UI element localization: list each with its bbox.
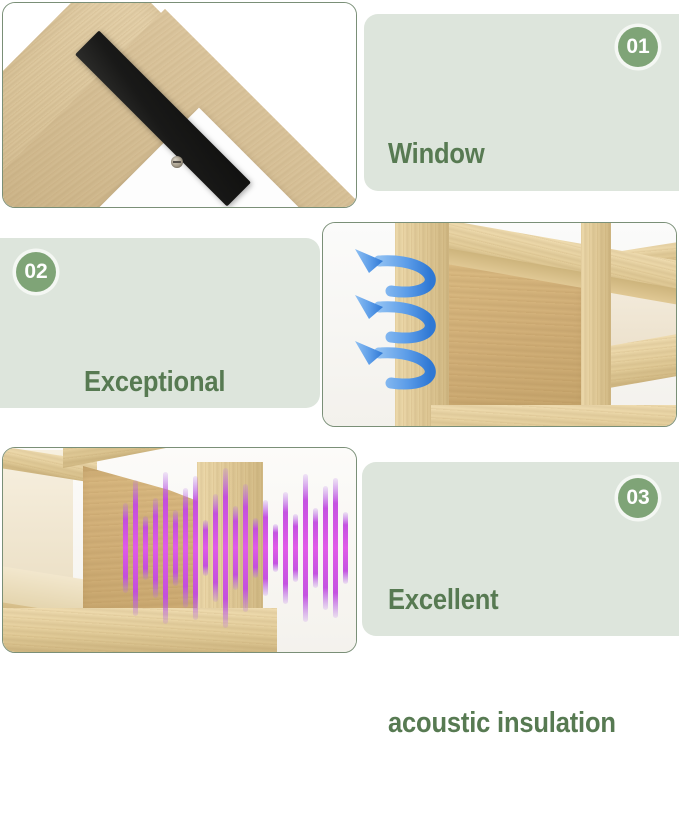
heading-line-1: Window — [388, 134, 652, 175]
heat-retention-illustration — [323, 223, 676, 426]
heading-line-1: Excellent — [388, 580, 652, 621]
feature-infographic: Window silencing pad 01 — [0, 0, 679, 655]
heading-line-1: Exceptional — [84, 362, 313, 403]
screw-icon — [171, 156, 183, 168]
feature-panel-2-photo — [322, 222, 677, 427]
feature-panel-3-photo — [2, 447, 357, 653]
feature-panel-3-heading: Excellent acoustic insulation — [388, 498, 652, 826]
acoustic-insulation-illustration — [3, 448, 356, 652]
feature-panel-1-photo — [2, 2, 357, 208]
window-silencing-pad-illustration — [3, 3, 356, 207]
sound-waveform-icon — [123, 458, 353, 638]
feature-panel-3-number-badge: 03 — [618, 478, 658, 518]
feature-panel-1-number-badge: 01 — [618, 27, 658, 67]
heat-flow-arrows-icon — [349, 247, 509, 407]
box-base — [431, 405, 677, 427]
heading-line-2: acoustic insulation — [388, 703, 652, 744]
box-right-post — [581, 222, 611, 427]
feature-panel-2-number-badge: 02 — [16, 252, 56, 292]
